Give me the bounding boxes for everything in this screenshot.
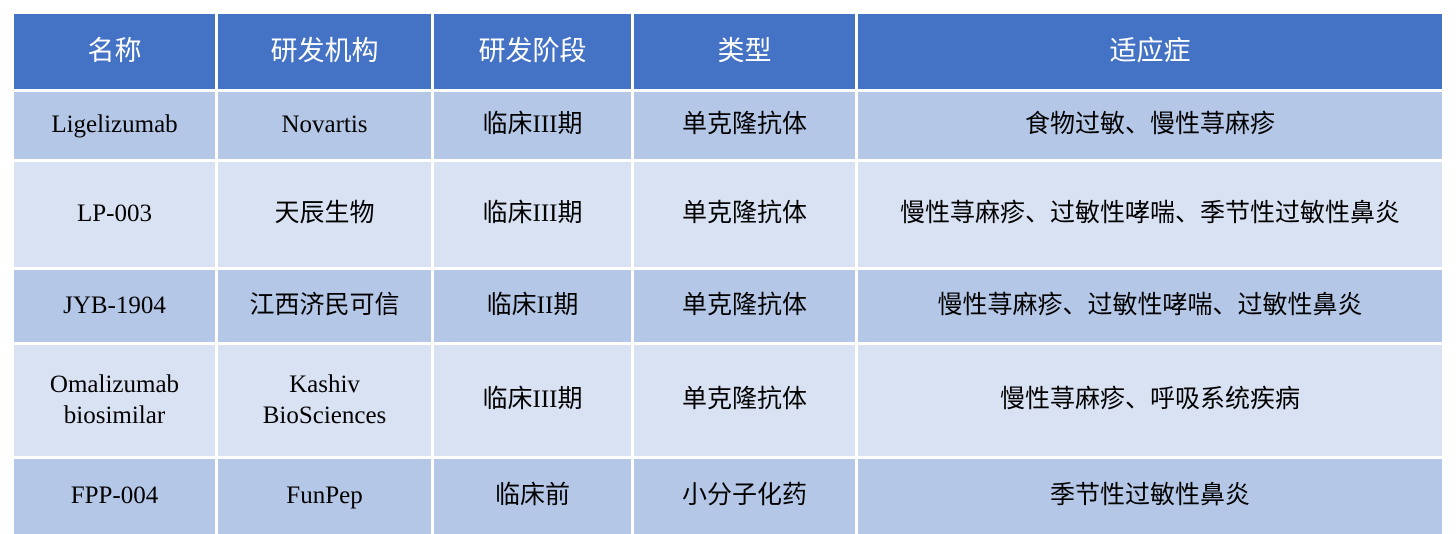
cell-phase-text: 临床II期 (442, 291, 623, 322)
cell-type: 单克隆抗体 (634, 92, 858, 162)
cell-indication-text: 慢性荨麻疹、呼吸系统疾病 (866, 385, 1434, 416)
cell-phase: 临床II期 (434, 270, 634, 345)
cell-org: Kashiv BioSciences (218, 345, 434, 459)
cell-type: 单克隆抗体 (634, 270, 858, 345)
cell-phase-text: 临床III期 (442, 199, 623, 230)
column-header-type: 类型 (634, 14, 858, 92)
cell-phase: 临床III期 (434, 162, 634, 270)
cell-org-text: FunPep (226, 481, 423, 512)
cell-type-text: 单克隆抗体 (642, 385, 847, 416)
cell-indication: 慢性荨麻疹、过敏性哮喘、过敏性鼻炎 (858, 270, 1442, 345)
cell-indication-text: 食物过敏、慢性荨麻疹 (866, 110, 1434, 141)
cell-name-text: JYB-1904 (22, 291, 207, 322)
cell-name: Omalizumab biosimilar (14, 345, 218, 459)
cell-name: LP-003 (14, 162, 218, 270)
cell-indication-text: 慢性荨麻疹、过敏性哮喘、季节性过敏性鼻炎 (866, 199, 1434, 230)
column-header-name: 名称 (14, 14, 218, 92)
cell-org: 天辰生物 (218, 162, 434, 270)
cell-phase: 临床III期 (434, 345, 634, 459)
cell-type-text: 单克隆抗体 (642, 199, 847, 230)
cell-indication: 慢性荨麻疹、呼吸系统疾病 (858, 345, 1442, 459)
table-row: FPP-004 FunPep 临床前 小分子化药 季节性过敏性鼻炎 (14, 459, 1442, 534)
cell-phase-text: 临床III期 (442, 110, 623, 141)
cell-type-text: 单克隆抗体 (642, 110, 847, 141)
cell-type: 单克隆抗体 (634, 162, 858, 270)
header-row: 名称 研发机构 研发阶段 类型 适应症 (14, 14, 1442, 92)
cell-org: FunPep (218, 459, 434, 534)
table-container: 名称 研发机构 研发阶段 类型 适应症 Ligelizumab Novartis… (0, 0, 1456, 494)
cell-indication: 慢性荨麻疹、过敏性哮喘、季节性过敏性鼻炎 (858, 162, 1442, 270)
cell-name-text: LP-003 (22, 199, 207, 230)
cell-name-text: Omalizumab biosimilar (22, 370, 207, 431)
cell-org-text: 江西济民可信 (226, 291, 423, 322)
cell-phase: 临床III期 (434, 92, 634, 162)
cell-type-text: 单克隆抗体 (642, 291, 847, 322)
cell-org: Novartis (218, 92, 434, 162)
cell-name-text: FPP-004 (22, 481, 207, 512)
cell-org-text: Kashiv BioSciences (226, 370, 423, 431)
cell-indication: 季节性过敏性鼻炎 (858, 459, 1442, 534)
cell-name: JYB-1904 (14, 270, 218, 345)
cell-indication: 食物过敏、慢性荨麻疹 (858, 92, 1442, 162)
cell-indication-text: 慢性荨麻疹、过敏性哮喘、过敏性鼻炎 (866, 291, 1434, 322)
table-row: Omalizumab biosimilar Kashiv BioSciences… (14, 345, 1442, 459)
drug-pipeline-table: 名称 研发机构 研发阶段 类型 适应症 Ligelizumab Novartis… (14, 14, 1442, 534)
cell-org-text: 天辰生物 (226, 199, 423, 230)
cell-org-text: Novartis (226, 110, 423, 141)
cell-type-text: 小分子化药 (642, 481, 847, 512)
table-row: JYB-1904 江西济民可信 临床II期 单克隆抗体 慢性荨麻疹、过敏性哮喘、… (14, 270, 1442, 345)
cell-org: 江西济民可信 (218, 270, 434, 345)
column-header-indication: 适应症 (858, 14, 1442, 92)
cell-phase-text: 临床III期 (442, 385, 623, 416)
column-header-org: 研发机构 (218, 14, 434, 92)
cell-phase-text: 临床前 (442, 481, 623, 512)
cell-name-text: Ligelizumab (22, 110, 207, 141)
table-row: Ligelizumab Novartis 临床III期 单克隆抗体 食物过敏、慢… (14, 92, 1442, 162)
table-header: 名称 研发机构 研发阶段 类型 适应症 (14, 14, 1442, 92)
cell-name: FPP-004 (14, 459, 218, 534)
column-header-phase: 研发阶段 (434, 14, 634, 92)
table-row: LP-003 天辰生物 临床III期 单克隆抗体 慢性荨麻疹、过敏性哮喘、季节性… (14, 162, 1442, 270)
table-body: Ligelizumab Novartis 临床III期 单克隆抗体 食物过敏、慢… (14, 92, 1442, 534)
cell-indication-text: 季节性过敏性鼻炎 (866, 481, 1434, 512)
cell-name: Ligelizumab (14, 92, 218, 162)
cell-type: 小分子化药 (634, 459, 858, 534)
cell-type: 单克隆抗体 (634, 345, 858, 459)
cell-phase: 临床前 (434, 459, 634, 534)
